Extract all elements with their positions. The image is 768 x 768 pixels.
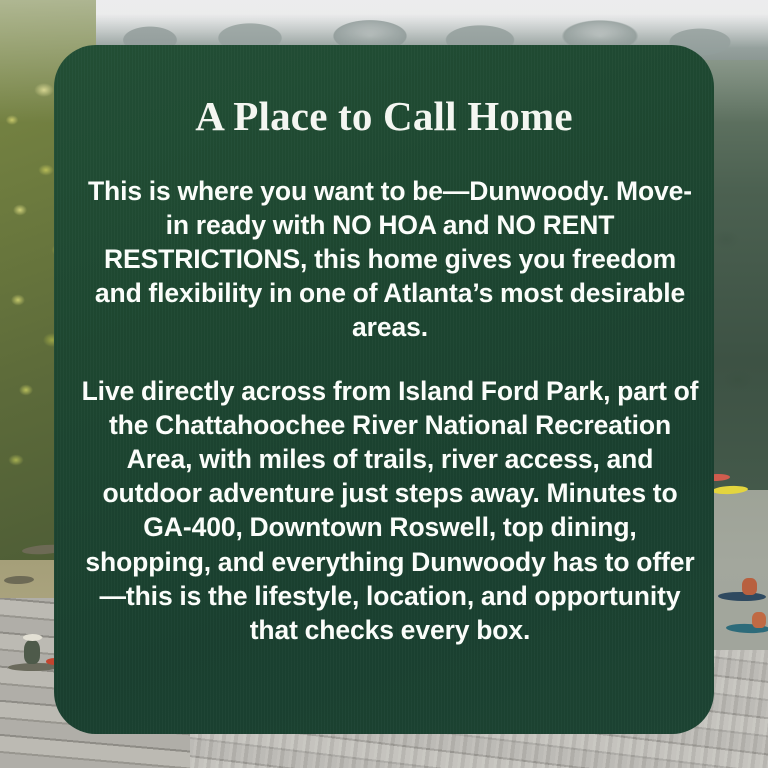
paddler-figure <box>742 578 757 595</box>
paddler-hat-icon <box>23 634 42 641</box>
listing-flyer-screenshot: A Place to Call Home This is where you w… <box>0 0 768 768</box>
page-title: A Place to Call Home <box>195 95 572 138</box>
description-paragraph-1: This is where you want to be—Dunwoody. M… <box>80 174 700 344</box>
description-paragraph-2: Live directly across from Island Ford Pa… <box>80 374 700 646</box>
paddler-figure <box>752 612 766 628</box>
description-panel: A Place to Call Home This is where you w… <box>54 45 714 734</box>
description-body: This is where you want to be—Dunwoody. M… <box>80 174 700 647</box>
paddler-figure <box>24 640 40 664</box>
